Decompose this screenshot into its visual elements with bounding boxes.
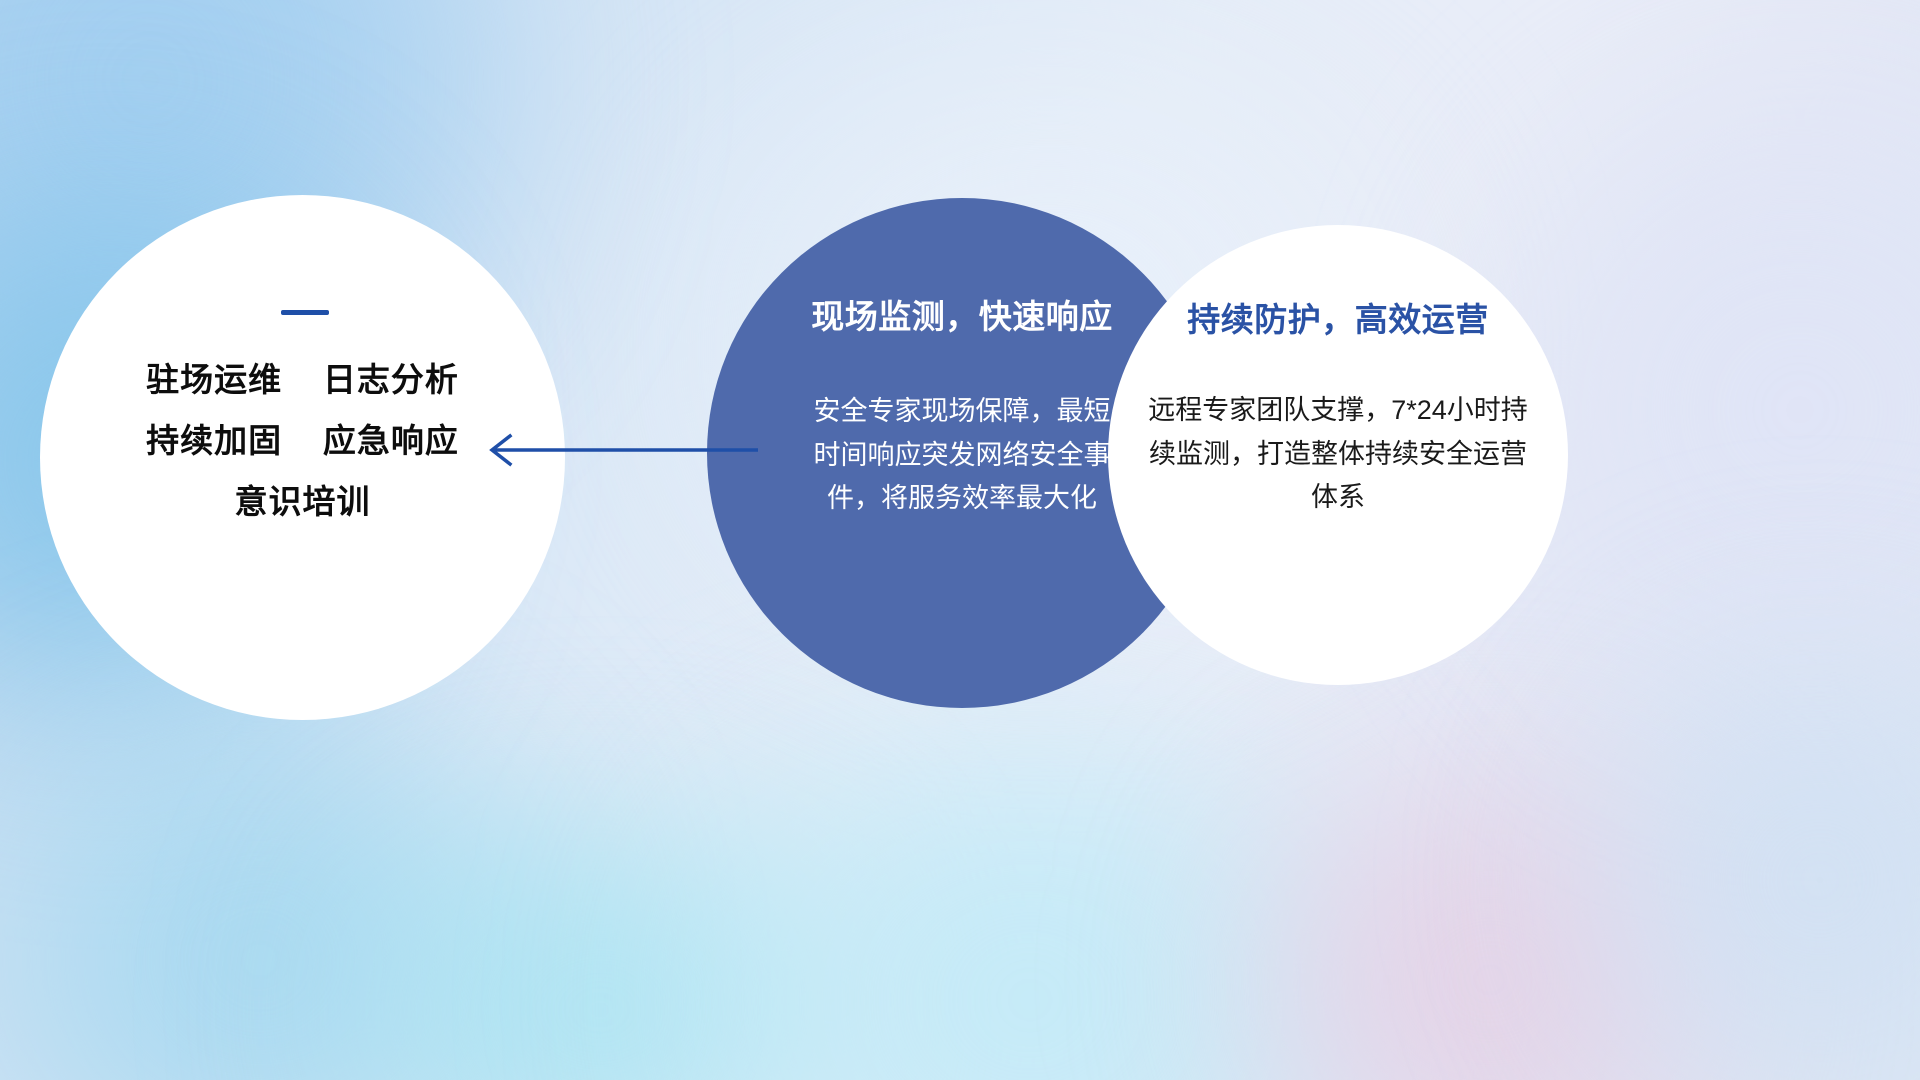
capability-line-1: 驻场运维 日志分析 (146, 363, 459, 396)
left-pointing-arrow (480, 400, 760, 500)
right-circle-body: 远程专家团队支撑，7*24小时持续监测，打造整体持续安全运营体系 (1138, 389, 1538, 520)
divider-line (281, 310, 329, 315)
capability-line-3: 意识培训 (146, 485, 459, 518)
middle-circle-title: 现场监测，快速响应 (811, 290, 1113, 338)
right-operations-circle: 持续防护，高效运营 远程专家团队支撑，7*24小时持续监测，打造整体持续安全运营… (1108, 225, 1568, 685)
capability-list: 驻场运维 日志分析 持续加固 应急响应 意识培训 (146, 363, 459, 518)
middle-circle-body: 安全专家现场保障，最短时间响应突发网络安全事件，将服务效率最大化 (807, 390, 1117, 521)
slide-canvas: 驻场运维 日志分析 持续加固 应急响应 意识培训 现场监测，快速响应 安全专家现… (0, 0, 1920, 1080)
right-circle-title: 持续防护，高效运营 (1187, 293, 1489, 341)
capability-line-2: 持续加固 应急响应 (146, 424, 459, 457)
